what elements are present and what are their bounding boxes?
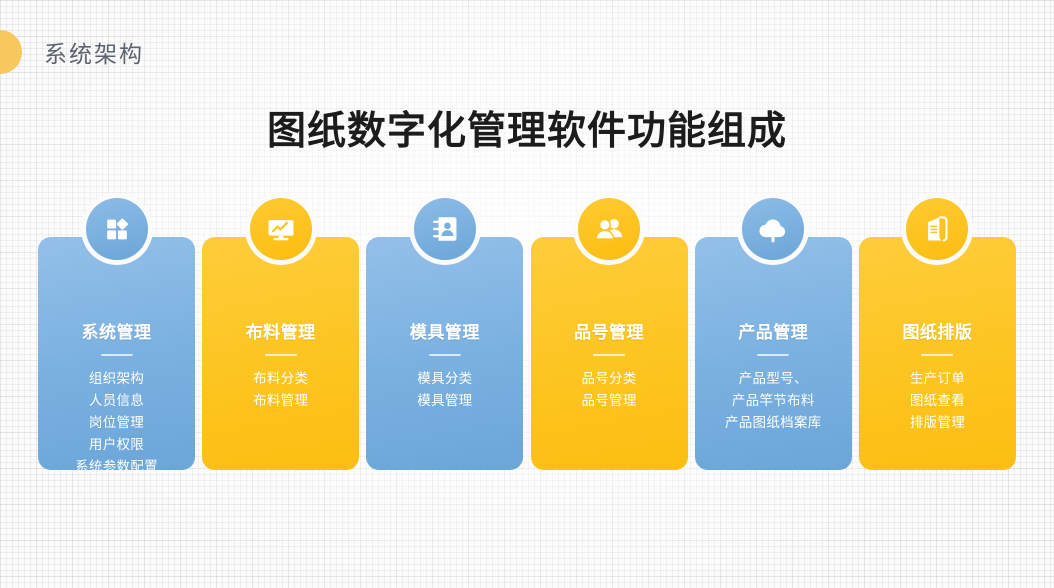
feature-card-divider [265, 354, 297, 356]
feature-card-item: 布料分类 [202, 368, 359, 390]
monitor-chart-icon [250, 198, 312, 260]
feature-card-item: 布料管理 [202, 390, 359, 412]
header-accent-dot-icon [0, 30, 22, 74]
feature-card-item-list: 生产订单图纸查看排版管理 [859, 368, 1016, 434]
feature-cards-row: 系统管理组织架构人员信息岗位管理用户权限系统参数配置布料管理布料分类布料管理模具… [38, 198, 1016, 473]
feature-card-body: 布料管理布料分类布料管理 [202, 237, 359, 470]
feature-card-title: 系统管理 [38, 323, 195, 343]
feature-card-item: 品号管理 [531, 390, 688, 412]
feature-card-divider [593, 354, 625, 356]
feature-card-item: 组织架构 [38, 368, 195, 390]
address-book-icon [414, 198, 476, 260]
header-eyebrow-label: 系统架构 [44, 35, 144, 69]
feature-card-item-list: 布料分类布料管理 [202, 368, 359, 412]
feature-card-item: 产品图纸档案库 [695, 412, 852, 434]
feature-card-item: 产品竿节布料 [695, 390, 852, 412]
feature-card[interactable]: 系统管理组织架构人员信息岗位管理用户权限系统参数配置 [38, 198, 195, 473]
feature-card-title: 图纸排版 [859, 323, 1016, 343]
feature-card-title: 布料管理 [202, 323, 359, 343]
header: 系统架构 [0, 24, 144, 80]
feature-card-item: 产品型号、 [695, 368, 852, 390]
feature-card-item-list: 产品型号、产品竿节布料产品图纸档案库 [695, 368, 852, 434]
feature-card[interactable]: 布料管理布料分类布料管理 [202, 198, 359, 473]
feature-card-item: 排版管理 [859, 412, 1016, 434]
feature-card[interactable]: 图纸排版生产订单图纸查看排版管理 [859, 198, 1016, 473]
feature-card-item: 模具分类 [366, 368, 523, 390]
feature-card-body: 模具管理模具分类模具管理 [366, 237, 523, 470]
feature-card[interactable]: 模具管理模具分类模具管理 [366, 198, 523, 473]
feature-card-item: 系统参数配置 [38, 456, 195, 478]
feature-card-item-list: 组织架构人员信息岗位管理用户权限系统参数配置 [38, 368, 195, 477]
feature-card[interactable]: 品号管理品号分类品号管理 [531, 198, 688, 473]
feature-card-item: 岗位管理 [38, 412, 195, 434]
feature-card-item: 人员信息 [38, 390, 195, 412]
feature-card-title: 产品管理 [695, 323, 852, 343]
feature-card-body: 产品管理产品型号、产品竿节布料产品图纸档案库 [695, 237, 852, 470]
feature-card-item: 模具管理 [366, 390, 523, 412]
feature-card-item: 品号分类 [531, 368, 688, 390]
feature-card-title: 模具管理 [366, 323, 523, 343]
grid-shapes-icon [86, 198, 148, 260]
feature-card-body: 品号管理品号分类品号管理 [531, 237, 688, 470]
feature-card-divider [429, 354, 461, 356]
feature-card-divider [101, 354, 133, 356]
feature-card-divider [921, 354, 953, 356]
feature-card-item-list: 模具分类模具管理 [366, 368, 523, 412]
feature-card-divider [757, 354, 789, 356]
document-scroll-icon [906, 198, 968, 260]
feature-card-item: 图纸查看 [859, 390, 1016, 412]
feature-card-body: 系统管理组织架构人员信息岗位管理用户权限系统参数配置 [38, 237, 195, 470]
feature-card-title: 品号管理 [531, 323, 688, 343]
feature-card-item-list: 品号分类品号管理 [531, 368, 688, 412]
feature-card[interactable]: 产品管理产品型号、产品竿节布料产品图纸档案库 [695, 198, 852, 473]
cloud-upload-icon [742, 198, 804, 260]
feature-card-item: 用户权限 [38, 434, 195, 456]
feature-card-body: 图纸排版生产订单图纸查看排版管理 [859, 237, 1016, 470]
page-title: 图纸数字化管理软件功能组成 [0, 100, 1054, 156]
feature-card-item: 生产订单 [859, 368, 1016, 390]
users-group-icon [578, 198, 640, 260]
